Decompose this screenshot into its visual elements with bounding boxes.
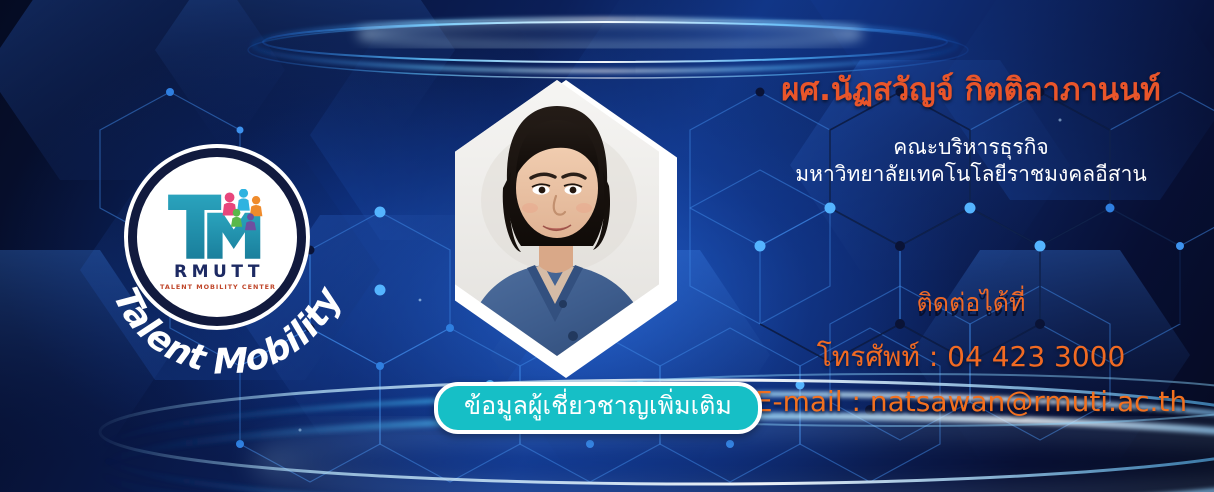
person-name: ผศ.นัฏสวัญจ์ กิตติลาภานนท์ bbox=[736, 74, 1206, 107]
faculty-line: คณะบริหารธุรกิจ bbox=[736, 134, 1206, 161]
expert-profile-banner: RMUTT TALENT MOBILITY CENTER Talent Mobi… bbox=[0, 0, 1214, 492]
talent-mobility-arc-text: Talent Mobility bbox=[92, 182, 362, 372]
contact-email[interactable]: E-mail : natsawan@rmuti.ac.th bbox=[736, 388, 1206, 416]
talent-mobility-logo: RMUTT TALENT MOBILITY CENTER Talent Mobi… bbox=[128, 148, 318, 338]
portrait-hexagon bbox=[455, 80, 677, 378]
contact-heading: ติดต่อได้ที่ bbox=[736, 290, 1206, 315]
university-line: มหาวิทยาลัยเทคโนโลยีราชมงคลอีสาน bbox=[736, 161, 1206, 188]
arc-label: Talent Mobility bbox=[105, 280, 350, 383]
network-mesh-dark bbox=[760, 92, 1180, 362]
person-affiliation: คณะบริหารธุรกิจ มหาวิทยาลัยเทคโนโลยีราชม… bbox=[736, 134, 1206, 189]
more-expert-info-button[interactable]: ข้อมูลผู้เชี่ยวชาญเพิ่มเติม bbox=[434, 382, 762, 434]
top-glow-ring bbox=[248, 19, 968, 78]
contact-phone[interactable]: โทรศัพท์ : 04 423 3000 bbox=[736, 343, 1206, 371]
